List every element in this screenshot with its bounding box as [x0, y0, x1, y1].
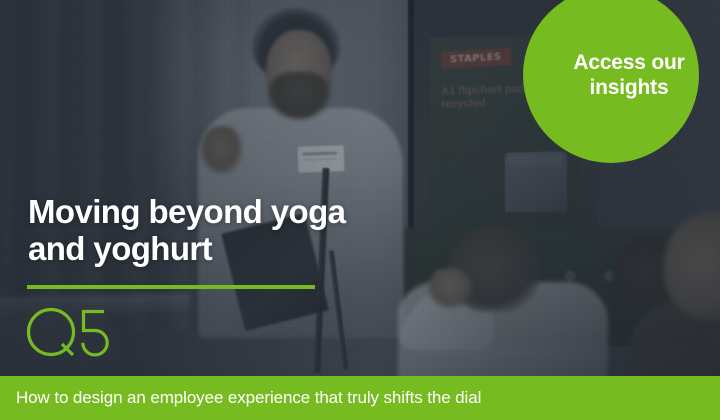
marketing-card: STAPLES A1 flipchart pad recycled Premiu… [0, 0, 720, 420]
access-insights-badge-label: Access our insights [573, 51, 684, 101]
q5-logo[interactable] [26, 306, 112, 358]
footer-subtitle: How to design an employee experience tha… [0, 388, 481, 408]
title-divider [27, 285, 315, 289]
footer-bar: How to design an employee experience tha… [0, 376, 720, 420]
page-title: Moving beyond yoga and yoghurt [28, 194, 468, 268]
